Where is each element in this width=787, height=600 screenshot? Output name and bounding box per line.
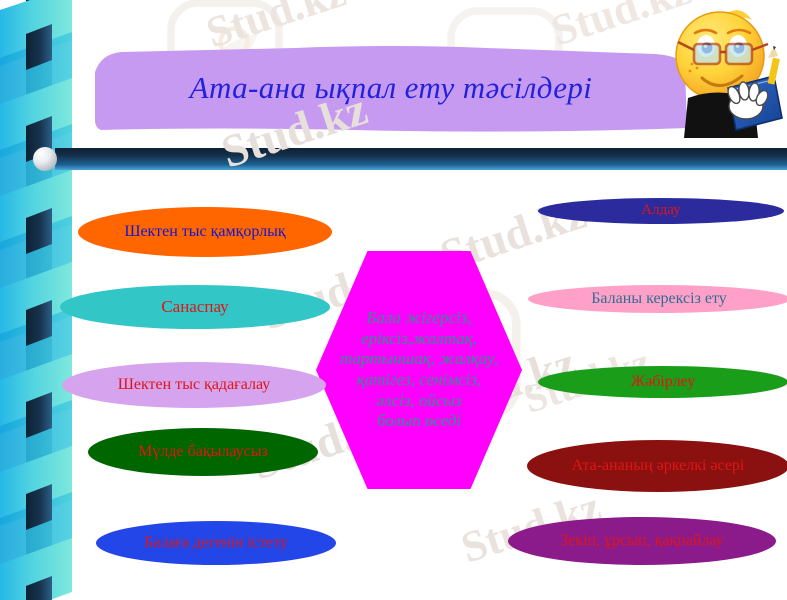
ellipse-label: Шектен тыс қадағалау	[118, 377, 271, 394]
ellipse-item[interactable]: Санаспау	[60, 285, 330, 329]
hexagon-text: Бала жігерсіз, еріксіз,жалтақ, тартыншақ…	[300, 251, 538, 489]
ellipse-item[interactable]: Баланы керексіз ету	[528, 285, 787, 313]
hexagon-line: қатігез, сенімсіз,	[340, 370, 498, 391]
ellipse-label: Ата-ананың әркелкі әсері	[572, 458, 745, 475]
title-banner: Ата-ана ықпал ету тәсілдері	[95, 42, 687, 134]
hexagon-line: Бала жігерсіз,	[340, 308, 498, 329]
ellipse-label: Баланы керексіз ету	[591, 291, 727, 308]
divider-bar	[55, 148, 787, 170]
hexagon-line: болып өседі	[340, 411, 498, 432]
hexagon-line: еріксіз,жалтақ,	[340, 329, 498, 350]
ellipse-label: Жәбірлеу	[631, 374, 696, 391]
ellipse-item[interactable]: Жәбірлеу	[538, 366, 787, 398]
ellipse-label: Балаға дегенін істету	[144, 535, 288, 552]
ellipse-item[interactable]: Зекіп, ұрсып, қақпайлау	[508, 517, 776, 565]
ellipse-item[interactable]: Шектен тыс қамқорлық	[78, 207, 332, 257]
central-hexagon: Бала жігерсіз, еріксіз,жалтақ, тартыншақ…	[316, 251, 522, 489]
ellipse-item[interactable]: Шектен тыс қадағалау	[62, 362, 326, 408]
ellipse-item[interactable]: Балаға дегенін істету	[96, 521, 336, 565]
ellipse-label: Алдау	[641, 203, 680, 219]
slide-canvas: Stud.kz Stud.kz Stud.kz Stud.kz - Stud.k…	[0, 0, 787, 600]
smiley-with-book-icon	[662, 2, 786, 138]
ellipse-label: Шектен тыс қамқорлық	[124, 224, 285, 241]
ellipse-item[interactable]: Алдау	[538, 198, 784, 224]
ellipse-item[interactable]: Ата-ананың әркелкі әсері	[527, 440, 787, 492]
ellipse-label: Санаспау	[161, 298, 228, 316]
ellipse-label: Мүлде бақылаусыз	[138, 444, 268, 461]
ellipse-label: Зекіп, ұрсып, қақпайлау	[560, 533, 723, 550]
sphere-bullet-icon	[33, 147, 57, 171]
page-title: Ата-ана ықпал ету тәсілдері	[95, 42, 687, 134]
hexagon-line: әлсіз, ойсыз	[340, 391, 498, 412]
hexagon-line: тартыншақ, жалқау,	[340, 349, 498, 370]
ellipse-item[interactable]: Мүлде бақылаусыз	[88, 428, 318, 476]
